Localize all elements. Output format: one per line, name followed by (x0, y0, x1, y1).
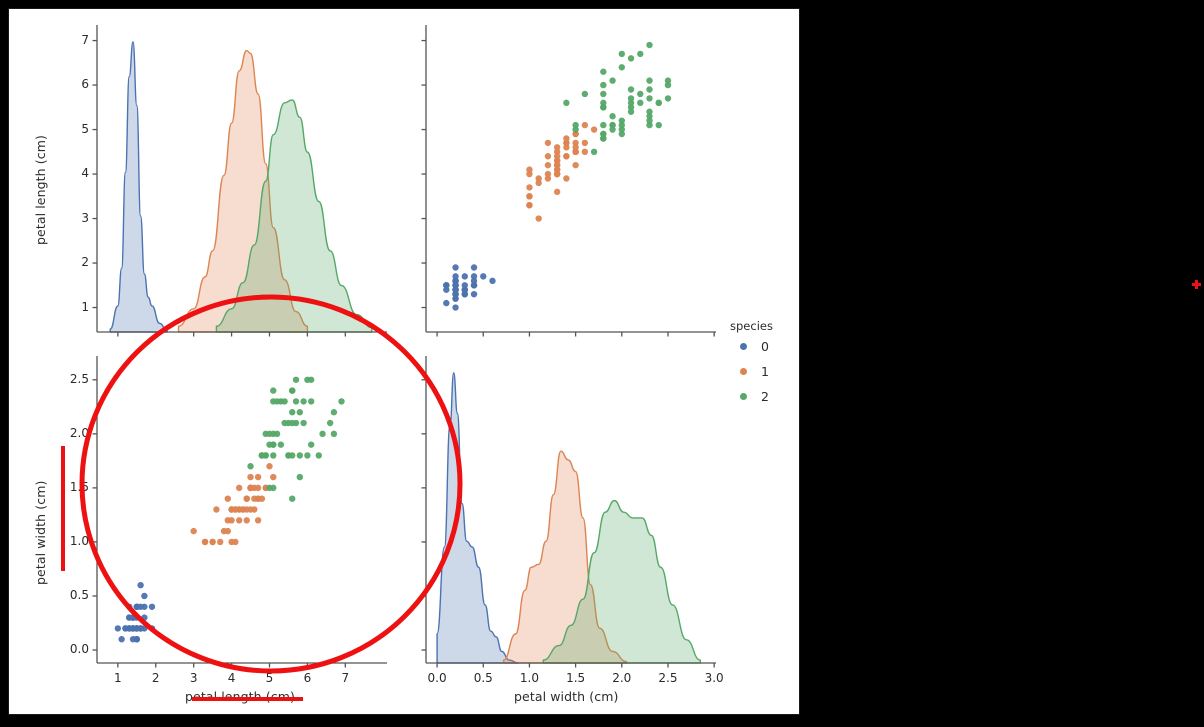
tick-label: 2 (152, 671, 160, 685)
legend-swatch-dot-icon (740, 368, 747, 375)
tick-label: 1.5 (566, 671, 585, 685)
tick-label: 3 (190, 671, 198, 685)
tick-label: 7 (341, 671, 349, 685)
legend-swatch-dot-icon (740, 343, 747, 350)
legend-item-label: 1 (761, 364, 769, 379)
tick-label: 2.0 (70, 426, 89, 440)
screenshot-root: petal length (cm) petal width (cm) petal… (0, 0, 1204, 727)
tick-label: 1.5 (70, 480, 89, 494)
tick-label: 4 (81, 166, 89, 180)
tick-label: 4 (228, 671, 236, 685)
tick-label: 5 (81, 122, 89, 136)
legend-item[interactable]: 0 (740, 339, 769, 354)
legend-item-label: 2 (761, 389, 769, 404)
axes-scatter-petal-length-vs-petal-width (93, 356, 388, 668)
matplotlib-figure-canvas: petal length (cm) petal width (cm) petal… (8, 8, 800, 715)
tick-label: 1.0 (520, 671, 539, 685)
tick-label: 2.5 (658, 671, 677, 685)
y-axis-label-petal-length: petal length (cm) (33, 135, 48, 245)
tick-label: 1 (81, 300, 89, 314)
legend-item-label: 0 (761, 339, 769, 354)
legend-title: species (730, 319, 773, 333)
tick-label: 0.5 (70, 588, 89, 602)
axes-scatter-petal-width-vs-petal-length (422, 25, 717, 337)
tick-label: 0.0 (428, 671, 447, 685)
axes-kde-petal-length (93, 25, 388, 337)
tick-label: 0.5 (474, 671, 493, 685)
tick-label: 2.5 (70, 372, 89, 386)
pairplot-grid: petal length (cm) petal width (cm) petal… (9, 9, 799, 714)
x-axis-label-petal-width: petal width (cm) (514, 689, 618, 704)
legend-swatch-dot-icon (740, 393, 747, 400)
tick-label: 7 (81, 33, 89, 47)
tick-label: 2.0 (612, 671, 631, 685)
tick-label: 5 (266, 671, 274, 685)
tick-label: 1 (114, 671, 122, 685)
y-axis-label-petal-width: petal width (cm) (33, 481, 48, 585)
tick-label: 3.0 (705, 671, 724, 685)
tick-label: 6 (304, 671, 312, 685)
axes-kde-petal-width (422, 356, 717, 668)
pairplot-svg-surface (9, 9, 801, 716)
tick-label: 1.0 (70, 534, 89, 548)
tick-label: 3 (81, 211, 89, 225)
tick-label: 0.0 (70, 642, 89, 656)
tick-label: 6 (81, 77, 89, 91)
crosshair-cursor (1192, 280, 1201, 289)
legend-item[interactable]: 1 (740, 364, 769, 379)
x-axis-label-petal-length: petal length (cm) (185, 689, 295, 704)
legend-item[interactable]: 2 (740, 389, 769, 404)
tick-label: 2 (81, 255, 89, 269)
